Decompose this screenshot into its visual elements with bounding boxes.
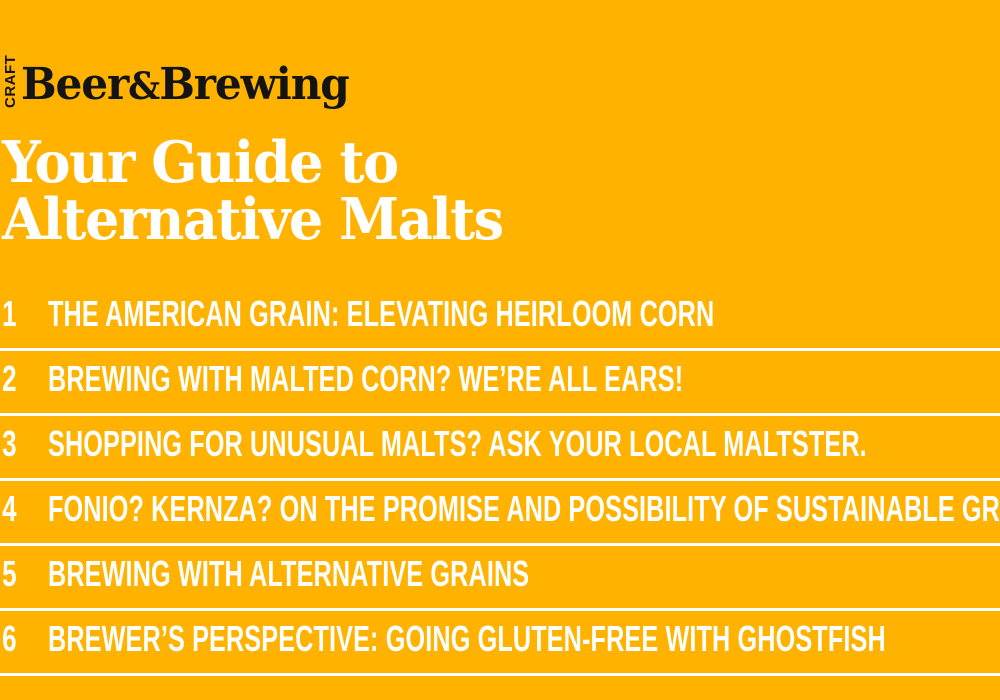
toc-item-number: 4 <box>0 481 35 529</box>
cover-page: CRAFT Beer&Brewing Your Guide to Alterna… <box>0 0 1000 700</box>
toc-item-number: 1 <box>0 286 35 334</box>
toc-item-number: 6 <box>0 611 35 659</box>
toc-item-number: 3 <box>0 416 35 464</box>
toc-item-number: 2 <box>0 351 35 399</box>
page-title-line-1: Your Guide to <box>2 134 686 191</box>
toc-item[interactable]: 2 BREWING WITH MALTED CORN? WE’RE ALL EA… <box>0 351 1000 416</box>
toc-item-title[interactable]: BREWING WITH MALTED CORN? WE’RE ALL EARS… <box>48 351 714 399</box>
toc-item[interactable]: 5 BREWING WITH ALTERNATIVE GRAINS <box>0 546 1000 611</box>
brand-masthead: CRAFT Beer&Brewing <box>3 56 362 106</box>
page-title-line-2: Alternative Malts <box>2 191 686 248</box>
table-of-contents: 1 THE AMERICAN GRAIN: ELEVATING HEIRLOOM… <box>0 286 1000 676</box>
toc-item-title[interactable]: BREWING WITH ALTERNATIVE GRAINS <box>48 546 714 594</box>
toc-item-title[interactable]: SHOPPING FOR UNUSUAL MALTS? ASK YOUR LOC… <box>48 416 867 464</box>
page-title: Your Guide to Alternative Malts <box>2 134 722 248</box>
toc-item-title[interactable]: FONIO? KERNZA? ON THE PROMISE AND POSSIB… <box>48 481 1000 529</box>
toc-item[interactable]: 3 SHOPPING FOR UNUSUAL MALTS? ASK YOUR L… <box>0 416 1000 481</box>
brand-word-beer: Beer <box>21 59 128 110</box>
toc-item-title[interactable]: THE AMERICAN GRAIN: ELEVATING HEIRLOOM C… <box>48 286 714 334</box>
toc-item-number: 5 <box>0 546 35 594</box>
toc-item[interactable]: 4 FONIO? KERNZA? ON THE PROMISE AND POSS… <box>0 481 1000 546</box>
brand-word-brewing: Brewing <box>159 59 348 110</box>
brand-wordmark: Beer&Brewing <box>21 64 349 106</box>
ampersand-glyph: & <box>128 64 159 108</box>
toc-item[interactable]: 6 BREWER’S PERSPECTIVE: GOING GLUTEN-FRE… <box>0 611 1000 676</box>
toc-item[interactable]: 1 THE AMERICAN GRAIN: ELEVATING HEIRLOOM… <box>0 286 1000 351</box>
toc-item-title[interactable]: BREWER’S PERSPECTIVE: GOING GLUTEN-FREE … <box>48 611 886 659</box>
craft-vertical-label: CRAFT <box>3 57 18 105</box>
